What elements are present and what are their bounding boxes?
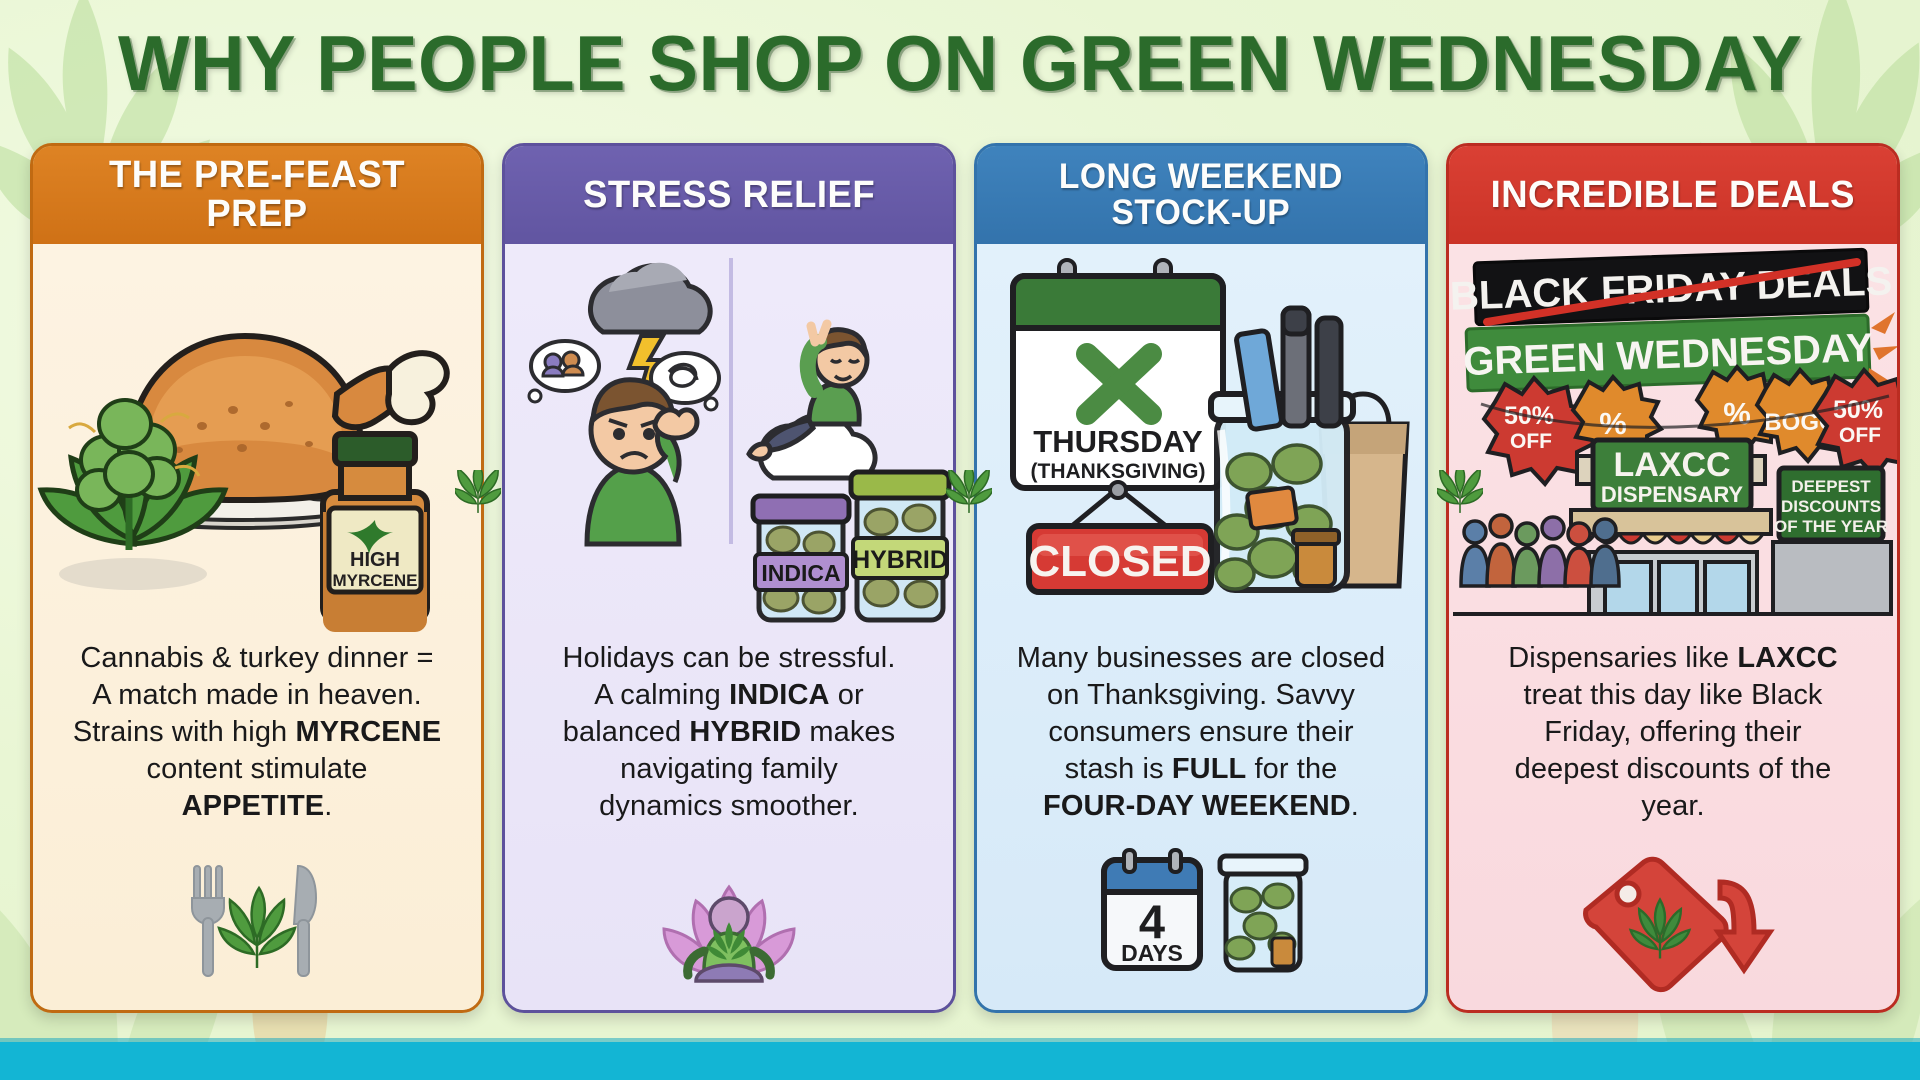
footer-icons-pre-feast-prep bbox=[33, 835, 481, 1010]
svg-text:MYRCENE: MYRCENE bbox=[332, 571, 417, 590]
illustration-closed-calendar-and-stock: THURSDAY (THANKSGIVING) CLOSED bbox=[977, 244, 1425, 634]
window-sign-line: DISCOUNTS bbox=[1781, 497, 1881, 516]
page-title: WHY PEOPLE SHOP ON GREEN WEDNESDAY bbox=[118, 24, 1802, 102]
card-pre-feast-prep[interactable]: THE PRE-FEAST PREP bbox=[30, 143, 484, 1013]
paragraph-line: Strains with high MYRCENE bbox=[55, 714, 459, 751]
footer-icons-incredible-deals bbox=[1449, 835, 1897, 1010]
svg-text:HIGH: HIGH bbox=[350, 549, 400, 571]
paragraph-line: Holidays can be stressful. bbox=[527, 640, 931, 677]
window-sign-line: DEEPEST bbox=[1791, 477, 1871, 496]
card-header-stress-relief: STRESS RELIEF bbox=[505, 146, 953, 244]
paragraph-line: Many businesses are closed bbox=[999, 640, 1403, 677]
calendar-day-label: THURSDAY bbox=[1033, 424, 1203, 459]
illustration-roast-turkey-with-cannabis-bud-and-bottle: HIGH MYRCENE bbox=[33, 244, 481, 634]
paragraph-emphasis: FULL bbox=[1172, 753, 1247, 785]
storefront-icon: LAXCC DISPENSARY bbox=[1571, 440, 1891, 614]
hybrid-jar-icon: HYBRID bbox=[851, 472, 949, 620]
card-header-pre-feast-prep: THE PRE-FEAST PREP bbox=[33, 146, 481, 244]
card-body-stress-relief: INDICA HYBRID Holidays can b bbox=[505, 244, 953, 1010]
paragraph-emphasis: APPETITE bbox=[182, 790, 325, 822]
paragraph-emphasis: INDICA bbox=[729, 679, 830, 711]
card-incredible-deals[interactable]: INCREDIBLE DEALS BLACK FRIDAY DEALS GREE… bbox=[1446, 143, 1900, 1013]
svg-text:OFF: OFF bbox=[1510, 430, 1552, 453]
paragraph-line: navigating family bbox=[527, 751, 931, 788]
card-header-line: STOCK-UP bbox=[1059, 195, 1343, 231]
paragraph-line: Friday, offering their bbox=[1471, 714, 1875, 751]
paragraph-line: on Thanksgiving. Savvy bbox=[999, 677, 1403, 714]
store-name-label: LAXCC bbox=[1613, 446, 1730, 484]
paragraph-line: content stimulate bbox=[55, 751, 459, 788]
paragraph-line: consumers ensure their bbox=[999, 714, 1403, 751]
card-paragraph-long-weekend-stock-up: Many businesses are closed on Thanksgivi… bbox=[977, 634, 1425, 826]
title-bar: WHY PEOPLE SHOP ON GREEN WEDNESDAY bbox=[0, 14, 1920, 112]
svg-text:INDICA: INDICA bbox=[761, 560, 840, 586]
illustration-dispensary-storefront-with-banners: BLACK FRIDAY DEALS GREEN WEDNESDAY bbox=[1449, 244, 1897, 634]
black-friday-banner: BLACK FRIDAY DEALS bbox=[1449, 249, 1893, 325]
storm-cloud-icon bbox=[590, 263, 710, 332]
card-row: THE PRE-FEAST PREP bbox=[30, 143, 1900, 1013]
cannabis-leaf-icon bbox=[219, 888, 295, 968]
svg-text:OFF: OFF bbox=[1839, 424, 1881, 447]
paragraph-line: Cannabis & turkey dinner = bbox=[55, 640, 459, 677]
paragraph-text: Strains with high bbox=[73, 716, 296, 748]
svg-text:%: % bbox=[1599, 406, 1627, 441]
customer-queue-icon bbox=[1461, 515, 1619, 586]
window-sign-line: OF THE YEAR bbox=[1774, 517, 1888, 536]
paragraph-emphasis: MYRCENE bbox=[295, 716, 441, 748]
footer-icons-stress-relief bbox=[505, 835, 953, 1010]
card-header-label: LONG WEEKEND STOCK-UP bbox=[1059, 159, 1343, 230]
paragraph-emphasis: HYBRID bbox=[689, 716, 801, 748]
paragraph-line: APPETITE. bbox=[55, 788, 459, 825]
bottom-bar bbox=[0, 1042, 1920, 1080]
card-body-pre-feast-prep: HIGH MYRCENE Cannabis & turkey dinner = … bbox=[33, 244, 481, 1010]
price-tag-with-cannabis-leaf-icon bbox=[1586, 859, 1727, 989]
footer-calendar-unit: DAYS bbox=[1121, 940, 1183, 966]
card-paragraph-pre-feast-prep: Cannabis & turkey dinner = A match made … bbox=[33, 634, 481, 826]
card-header-line: LONG WEEKEND bbox=[1059, 159, 1343, 195]
lotus-meditation-icon bbox=[634, 843, 824, 1003]
paragraph-line: dynamics smoother. bbox=[527, 788, 931, 825]
paragraph-emphasis: LAXCC bbox=[1737, 642, 1837, 674]
card-paragraph-incredible-deals: Dispensaries like LAXCC treat this day l… bbox=[1449, 634, 1897, 826]
svg-text:CLOSED: CLOSED bbox=[1028, 537, 1211, 586]
card-body-long-weekend-stock-up: THURSDAY (THANKSGIVING) CLOSED bbox=[977, 244, 1425, 1010]
fork-icon bbox=[192, 866, 224, 976]
svg-text:%: % bbox=[1723, 396, 1751, 431]
card-long-weekend-stock-up[interactable]: LONG WEEKEND STOCK-UP TH bbox=[974, 143, 1428, 1013]
four-days-calendar-icon: 4 DAYS bbox=[1104, 850, 1200, 968]
stocked-jar-icon bbox=[1220, 856, 1306, 970]
footer-icons-long-weekend-stock-up: 4 DAYS bbox=[977, 835, 1425, 1010]
paragraph-line: treat this day like Black bbox=[1471, 677, 1875, 714]
card-header-label: THE PRE-FEAST PREP bbox=[55, 156, 458, 234]
paragraph-line: year. bbox=[1471, 788, 1875, 825]
closed-sign-icon: CLOSED bbox=[1028, 526, 1211, 592]
store-sub-label: DISPENSARY bbox=[1601, 482, 1744, 507]
indica-jar-icon: INDICA bbox=[753, 496, 849, 620]
card-paragraph-stress-relief: Holidays can be stressful. A calming IND… bbox=[505, 634, 953, 826]
paragraph-line: Dispensaries like LAXCC bbox=[1471, 640, 1875, 677]
paragraph-line: A calming INDICA or bbox=[527, 677, 931, 714]
knife-icon bbox=[294, 866, 316, 976]
paragraph-line: A match made in heaven. bbox=[55, 677, 459, 714]
paragraph-line: balanced HYBRID makes bbox=[527, 714, 931, 751]
card-header-long-weekend-stock-up: LONG WEEKEND STOCK-UP bbox=[977, 146, 1425, 244]
relaxed-person-on-cloud-icon bbox=[749, 324, 875, 478]
paragraph-emphasis: FOUR-DAY WEEKEND bbox=[1043, 790, 1351, 822]
card-header-label: INCREDIBLE DEALS bbox=[1491, 176, 1855, 215]
card-header-incredible-deals: INCREDIBLE DEALS bbox=[1449, 146, 1897, 244]
svg-text:HYBRID: HYBRID bbox=[852, 546, 948, 574]
paragraph-line: deepest discounts of the bbox=[1471, 751, 1875, 788]
card-header-label: STRESS RELIEF bbox=[583, 176, 875, 215]
thought-bubble-people-icon bbox=[529, 341, 599, 402]
paragraph-line: stash is FULL for the bbox=[999, 751, 1403, 788]
calendar-sub-label: (THANKSGIVING) bbox=[1031, 460, 1206, 483]
paragraph-line: FOUR-DAY WEEKEND. bbox=[999, 788, 1403, 825]
card-body-incredible-deals: BLACK FRIDAY DEALS GREEN WEDNESDAY bbox=[1449, 244, 1897, 1010]
card-stress-relief[interactable]: STRESS RELIEF bbox=[502, 143, 956, 1013]
illustration-stressed-versus-relaxed: INDICA HYBRID bbox=[505, 244, 953, 634]
